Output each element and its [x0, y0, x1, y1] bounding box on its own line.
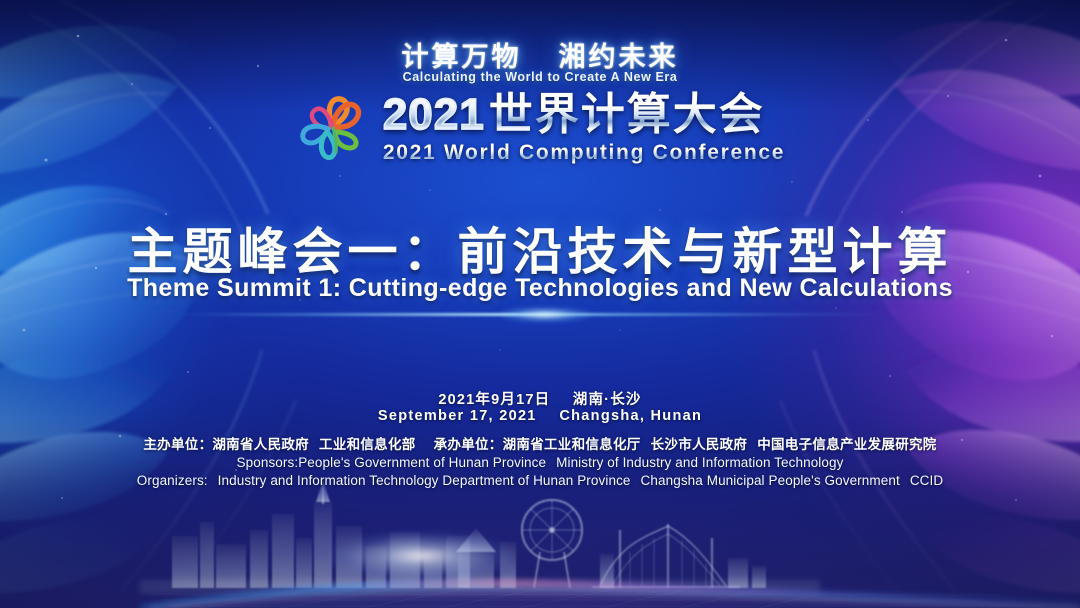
slogan-chinese-part2: 湘约未来 [559, 42, 679, 72]
sponsor-cn-2: 工业和信息化部 [319, 437, 416, 452]
sponsor-en-2: Ministry of Industry and Information Tec… [556, 455, 843, 470]
organizer-cn-2: 长沙市人民政府 [651, 437, 748, 452]
organizations-chinese: 主办单位：湖南省人民政府工业和信息化部承办单位：湖南省工业和信息化厅长沙市人民政… [0, 433, 1080, 453]
organizer-en-3: CCID [910, 473, 943, 488]
organizer-cn-3: 中国电子信息产业发展研究院 [757, 437, 936, 452]
slogan-chinese-part1: 计算万物 [401, 42, 521, 72]
sponsors-english: Sponsors:People's Government of Hunan Pr… [0, 455, 1080, 470]
event-date-english: September 17, 2021 Changsha, Hunan [0, 408, 1080, 424]
organizers-label-cn: 承办单位： [434, 437, 503, 452]
conference-title-group: 2021世界计算大会 2021 World Computing Conferen… [383, 92, 785, 165]
date-chinese-value: 2021年9月17日 [438, 392, 550, 408]
organizer-en-2: Changsha Municipal People's Government [641, 473, 900, 488]
organizers-label-en: Organizers: [137, 473, 208, 488]
event-date-chinese: 2021年9月17日 湖南·长沙 [0, 388, 1080, 409]
sponsors-label-cn: 主办单位： [143, 437, 212, 452]
butterfly-flower-logo [295, 92, 369, 164]
conference-title-year: 2021 [383, 90, 485, 139]
conference-lockup: 2021世界计算大会 2021 World Computing Conferen… [0, 92, 1080, 165]
slogan-english: Calculating the World to Create A New Er… [0, 70, 1080, 84]
conference-title-chinese-text: 世界计算大会 [489, 90, 765, 139]
date-english-value: September 17, 2021 [378, 408, 537, 424]
location-english-value: Changsha, Hunan [559, 408, 702, 424]
conference-title-english: 2021 World Computing Conference [383, 141, 785, 165]
sponsor-en-1: People's Government of Hunan Province [298, 455, 546, 470]
location-chinese-value: 湖南·长沙 [573, 392, 642, 408]
theme-title-english: Theme Summit 1: Cutting-edge Technologie… [0, 274, 1080, 303]
organizer-cn-1: 湖南省工业和信息化厅 [503, 437, 641, 452]
conference-title-chinese: 2021世界计算大会 [383, 90, 765, 139]
conference-poster: 计算万物 湘约未来 Calculating the World to Creat… [0, 0, 1080, 608]
organizer-en-1: Industry and Information Technology Depa… [218, 473, 631, 488]
sponsor-cn-1: 湖南省人民政府 [212, 437, 309, 452]
sponsors-label-en: Sponsors: [237, 455, 299, 470]
organizers-english: Organizers:Industry and Information Tech… [0, 473, 1080, 488]
slogan-chinese: 计算万物 湘约未来 [0, 35, 1080, 74]
